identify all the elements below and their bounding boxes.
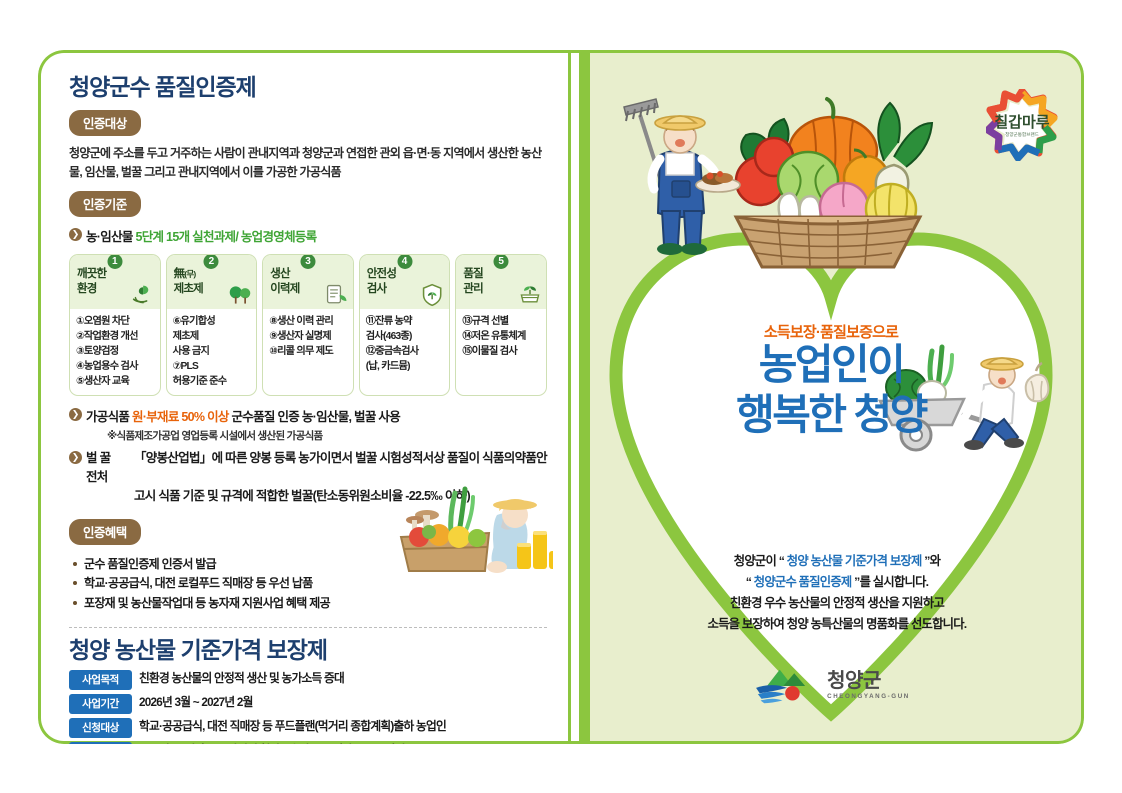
slogan-line-1: 농업인이 bbox=[578, 341, 1084, 388]
step-items: ①오염원 차단 ②작업환경 개선 ③토양검정 ④농업용수 검사 ⑤생산자 교육 bbox=[70, 309, 160, 395]
row-value: 주소지 읍·면사무소 산업팀/청양군 농촌공동체과 공공급식팀 041-940-… bbox=[139, 742, 483, 744]
closing-line-3: 친환경 우수 농산물의 안정적 생산을 지원하고 bbox=[608, 593, 1066, 614]
closing-line-4: 소득을 보장하여 청양 농특산물의 명품화를 선도합니다. bbox=[608, 614, 1066, 635]
table-row: 사업기간 2026년 3월 ~ 2027년 2월 bbox=[69, 694, 547, 714]
chevron-right-icon: ❯ bbox=[69, 228, 82, 241]
tree-icon bbox=[227, 283, 251, 305]
right-panel: 칠갑마루 청양군통합브랜드 bbox=[578, 50, 1084, 744]
leaflet-page: 청양군수 품질인증제 인증대상 청양군에 주소를 두고 거주하는 사람이 관내지… bbox=[0, 0, 1122, 793]
row-label: 사업목적 bbox=[69, 670, 132, 690]
table-row: 사업목적 친환경 농산물의 안정적 생산 및 농가소득 증대 bbox=[69, 670, 547, 690]
step-card: 1 깨끗한환경 ①오염원 차단 ②작업환경 개선 ③토양검정 bbox=[69, 254, 161, 396]
tag-certification-target: 인증대상 bbox=[69, 110, 141, 136]
svg-text:칠갑마루: 칠갑마루 bbox=[994, 113, 1049, 131]
row-value: 학교·공공급식, 대전 직매장 등 푸드플랜(먹거리 종합계획)출하 농업인 bbox=[139, 718, 446, 735]
processed-food-note: ※식품제조가공업 영업등록 시설에서 생산된 가공식품 bbox=[107, 428, 547, 443]
row-label: 문 의 처 bbox=[69, 742, 132, 744]
table-row: 신청대상 학교·공공급식, 대전 직매장 등 푸드플랜(먹거리 종합계획)출하 … bbox=[69, 718, 547, 738]
row-label: 사업기간 bbox=[69, 694, 132, 714]
logo-name-en: CHEONGYANG-GUN bbox=[827, 694, 910, 700]
slogan-line-2: 행복한 청양 bbox=[578, 391, 1084, 438]
leaflet-frame: 청양군수 품질인증제 인증대상 청양군에 주소를 두고 거주하는 사람이 관내지… bbox=[38, 50, 1084, 744]
step-items: ⑪잔류 농약 검사(463종) ⑫중금속검사 (납, 카드뮴) bbox=[360, 309, 450, 380]
criteria-headline-row: ❯ 농·임산물 5단계 15개 실천과제/ 농업경영체등록 bbox=[69, 226, 547, 245]
criteria-headline: 농·임산물 5단계 15개 실천과제/ 농업경영체등록 bbox=[86, 226, 317, 245]
step-card: 5 품질관리 ⑬규격 선별 bbox=[455, 254, 547, 396]
step-number: 4 bbox=[397, 254, 412, 269]
step-header: 3 생산이력제 bbox=[263, 255, 353, 309]
table-row: 문 의 처 주소지 읍·면사무소 산업팀/청양군 농촌공동체과 공공급식팀 04… bbox=[69, 742, 547, 744]
criteria-steps: 1 깨끗한환경 ①오염원 차단 ②작업환경 개선 ③토양검정 bbox=[69, 254, 547, 396]
step-header: 1 깨끗한환경 bbox=[70, 255, 160, 309]
step-header: 2 無(무)제초제 bbox=[167, 255, 257, 309]
fold-spine-inner bbox=[571, 53, 579, 741]
logo-name-kr: 청양군 bbox=[827, 671, 910, 691]
step-number: 3 bbox=[300, 254, 315, 269]
cheongyang-gun-logo: 청양군 CHEONGYANG-GUN bbox=[752, 666, 910, 706]
row-value: 친환경 농산물의 안정적 생산 및 농가소득 증대 bbox=[139, 670, 344, 687]
chilgapmaru-badge-icon: 칠갑마루 청양군통합브랜드 bbox=[986, 89, 1058, 161]
processed-food-row: ❯ 가공식품 원·부재료 50% 이상 군수품질 인증 농·임산물, 벌꿀 사용 bbox=[69, 406, 547, 425]
step-items: ⑧생산 이력 관리 ⑨생산자 실명제 ⑩리콜 의무 제도 bbox=[263, 309, 353, 365]
step-number: 1 bbox=[107, 254, 122, 269]
section2-title: 청양 농산물 기준가격 보장제 bbox=[69, 638, 547, 663]
step-header: 5 품질관리 bbox=[456, 255, 546, 309]
left-panel: 청양군수 품질인증제 인증대상 청양군에 주소를 두고 거주하는 사람이 관내지… bbox=[38, 50, 578, 744]
vegetable-basket-icon bbox=[708, 85, 948, 270]
farmer-with-crate-icon bbox=[393, 485, 553, 590]
farmer-with-rake-icon bbox=[614, 93, 744, 263]
mountain-wave-emblem-icon bbox=[752, 666, 818, 706]
chevron-right-icon: ❯ bbox=[69, 408, 82, 421]
shield-sprout-icon bbox=[420, 283, 444, 305]
step-number: 2 bbox=[204, 254, 219, 269]
closing-line-2: “ 청양군수 품질인증제 ”를 실시합니다. bbox=[608, 572, 1066, 593]
section-divider bbox=[69, 627, 547, 628]
closing-paragraph: 청양군이 “ 청양 농산물 기준가격 보장제 ”와 “ 청양군수 품질인증제 ”… bbox=[608, 551, 1066, 636]
list-item: 포장재 및 농산물작업대 등 농자재 지원사업 혜택 제공 bbox=[73, 594, 547, 613]
row-label: 신청대상 bbox=[69, 718, 132, 738]
box-sprout-icon bbox=[517, 283, 541, 305]
section1-title: 청양군수 품질인증제 bbox=[69, 75, 547, 100]
step-card: 2 無(무)제초제 ⑥유기합성 제초제 사용 금 bbox=[166, 254, 258, 396]
row-value: 2026년 3월 ~ 2027년 2월 bbox=[139, 694, 253, 711]
step-card: 4 안전성검사 ⑪잔류 농약 검사(463종) ⑫중금 bbox=[359, 254, 451, 396]
step-header: 4 안전성검사 bbox=[360, 255, 450, 309]
step-card: 3 생산이력제 ⑧생산 이 bbox=[262, 254, 354, 396]
step-items: ⑬규격 선별 ⑭저온 유통체계 ⑮이물질 검사 bbox=[456, 309, 546, 365]
hand-sprout-icon bbox=[131, 283, 155, 305]
document-leaf-icon bbox=[324, 283, 348, 305]
certification-target-text: 청양군에 주소를 두고 거주하는 사람이 관내지역과 청양군과 연접한 관외 읍… bbox=[69, 144, 547, 181]
sub-slogan: 소득보장·품질보증으로 bbox=[578, 321, 1084, 342]
step-number: 5 bbox=[494, 254, 509, 269]
chevron-right-icon: ❯ bbox=[69, 451, 82, 464]
step-items: ⑥유기합성 제초제 사용 금지 ⑦PLS 허용기준 준수 bbox=[167, 309, 257, 395]
closing-line-1: 청양군이 “ 청양 농산물 기준가격 보장제 ”와 bbox=[608, 551, 1066, 572]
tag-certification-benefit: 인증혜택 bbox=[69, 519, 141, 545]
processed-food-line: 가공식품 원·부재료 50% 이상 군수품질 인증 농·임산물, 벌꿀 사용 bbox=[86, 406, 400, 425]
svg-text:청양군통합브랜드: 청양군통합브랜드 bbox=[1005, 131, 1039, 137]
tag-certification-criteria: 인증기준 bbox=[69, 191, 141, 217]
